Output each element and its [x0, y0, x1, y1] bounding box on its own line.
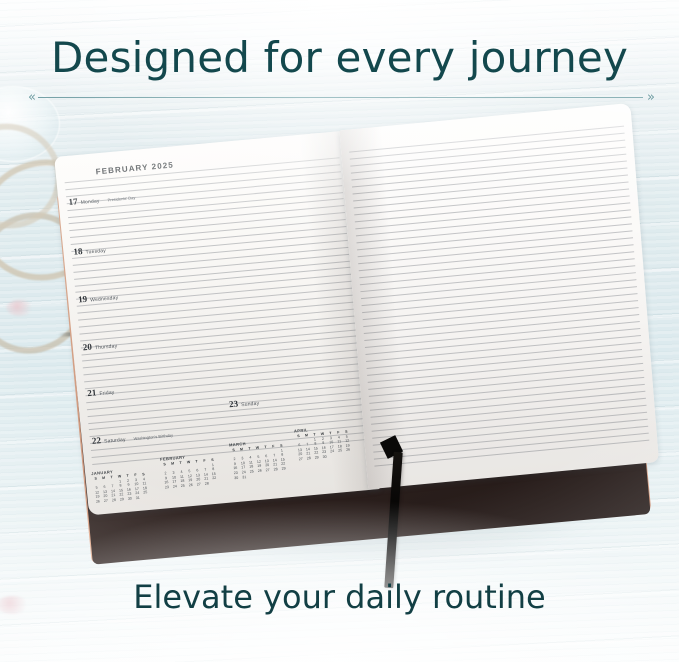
subline-text: Elevate your daily routine [0, 578, 679, 616]
divider-line [38, 97, 643, 98]
chevron-left-icon: « [28, 92, 40, 104]
decorative-divider: « » [28, 92, 655, 104]
headline-text: Designed for every journey [0, 33, 679, 82]
chevron-right-icon: » [643, 92, 655, 104]
product-lifestyle-image: FEBRUARY 2025 17MondayPresidents' Day18T… [0, 0, 679, 662]
